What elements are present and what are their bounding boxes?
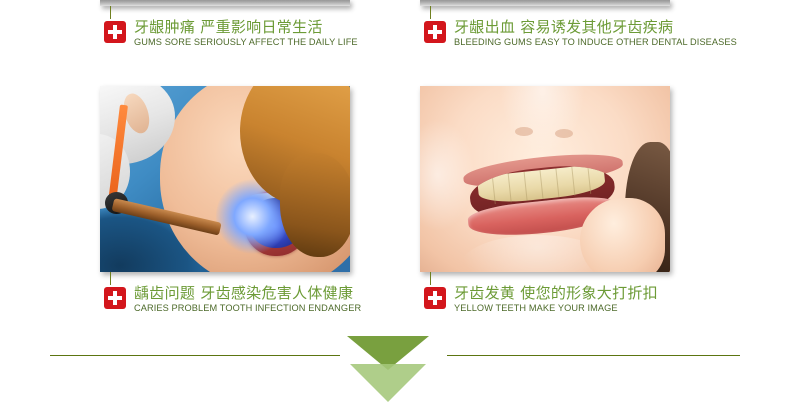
left-bottom-connector-tick (110, 272, 111, 285)
caption-left-bottom-text: 龋齿问题 牙齿感染危害人体健康 CARIES PROBLEM TOOTH INF… (134, 286, 368, 314)
caption-right-top-headline: 牙龈出血 容易诱发其他牙齿疾病 (454, 20, 746, 35)
caption-right-bottom-text: 牙齿发黄 使您的形象大打折扣 YELLOW TEETH MAKE YOUR IM… (454, 286, 658, 314)
page-root: 牙龈肿痛 严重影响日常生活 GUMS SORE SERIOUSLY AFFECT… (0, 0, 790, 414)
caption-left-top-subline: GUMS SORE SERIOUSLY AFFECT THE DAILY LIF… (134, 38, 358, 48)
hand-touching-cheek (580, 198, 665, 272)
caption-left-top-headline: 牙龈肿痛 严重影响日常生活 (134, 20, 365, 35)
left-photo-above-edge (100, 0, 350, 6)
caption-left-top-text: 牙龈肿痛 严重影响日常生活 GUMS SORE SERIOUSLY AFFECT… (134, 20, 365, 48)
right-bottom-connector-tick (430, 272, 431, 285)
red-cross-icon (104, 21, 126, 43)
divider-rule-right (447, 355, 740, 356)
caption-right-bottom: 牙齿发黄 使您的形象大打折扣 YELLOW TEETH MAKE YOUR IM… (424, 286, 658, 314)
red-cross-icon (424, 21, 446, 43)
caption-left-bottom-subline: CARIES PROBLEM TOOTH INFECTION ENDANGER (134, 304, 361, 314)
nostril-left (515, 127, 533, 136)
nostril-right (555, 129, 573, 138)
child-hair-shadow (280, 153, 350, 257)
left-photo-artwork (100, 86, 350, 272)
right-photo-above-edge-fade (420, 0, 670, 6)
right-photo-above-edge (420, 0, 670, 6)
arrow-triangle-lower (350, 364, 426, 402)
caption-right-top-subline: BLEEDING GUMS EASY TO INDUCE OTHER DENTA… (454, 38, 737, 48)
caption-right-bottom-headline: 牙齿发黄 使您的形象大打折扣 (454, 286, 658, 301)
right-photo-artwork (420, 86, 670, 272)
red-cross-icon (424, 287, 446, 309)
tooth (588, 163, 606, 194)
caption-left-bottom-headline: 龋齿问题 牙齿感染危害人体健康 (134, 286, 368, 301)
left-photo-dental-treatment (100, 86, 350, 272)
caption-right-top: 牙龈出血 容易诱发其他牙齿疾病 BLEEDING GUMS EASY TO IN… (424, 20, 746, 48)
left-top-connector-tick (110, 6, 111, 19)
red-cross-icon (104, 287, 126, 309)
divider-rule-left (50, 355, 340, 356)
caption-right-top-text: 牙龈出血 容易诱发其他牙齿疾病 BLEEDING GUMS EASY TO IN… (454, 20, 746, 48)
caption-left-bottom: 龋齿问题 牙齿感染危害人体健康 CARIES PROBLEM TOOTH INF… (104, 286, 368, 314)
caption-left-top: 牙龈肿痛 严重影响日常生活 GUMS SORE SERIOUSLY AFFECT… (104, 20, 365, 48)
left-photo-above-edge-fade (100, 0, 350, 6)
right-top-connector-tick (430, 6, 431, 19)
right-photo-smiling-mouth (420, 86, 670, 272)
double-down-arrow (347, 336, 429, 406)
caption-right-bottom-subline: YELLOW TEETH MAKE YOUR IMAGE (454, 304, 652, 314)
